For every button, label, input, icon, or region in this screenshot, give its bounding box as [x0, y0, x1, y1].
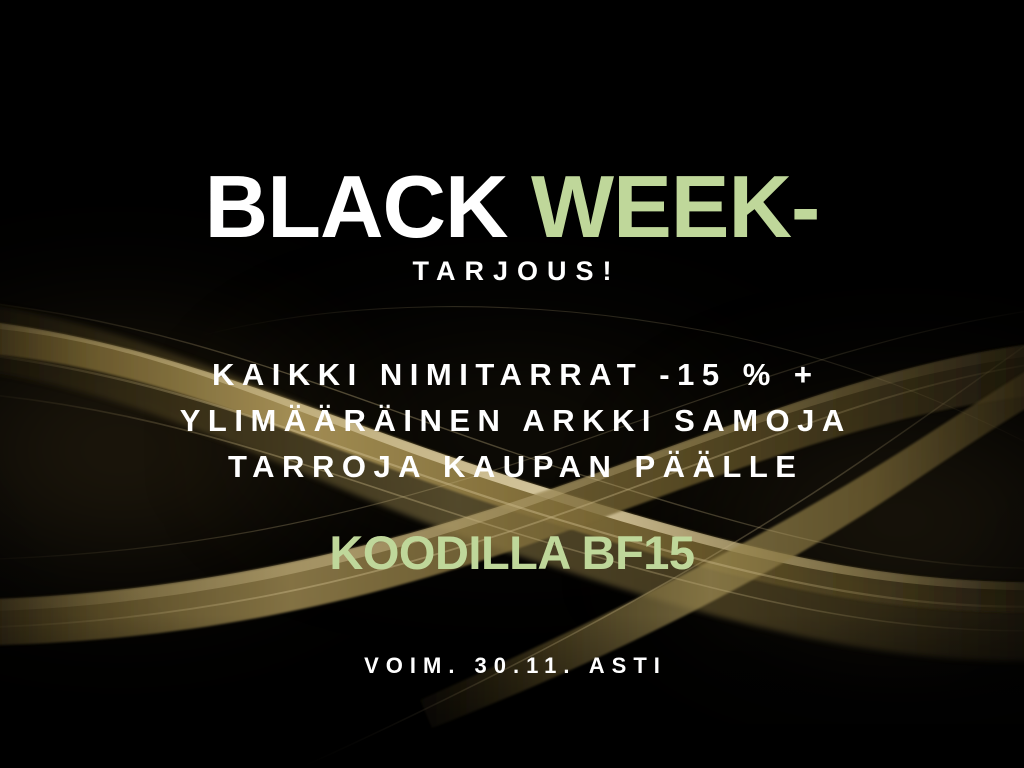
headline-subtitle: TARJOUS!	[0, 258, 1024, 285]
page-title: BLACK WEEK-	[0, 163, 1024, 251]
banner-content: BLACK WEEK- TARJOUS! KAIKKI NIMITARRAT -…	[0, 0, 1024, 768]
black-week-promo-banner: BLACK WEEK- TARJOUS! KAIKKI NIMITARRAT -…	[0, 0, 1024, 768]
promo-code-text: KOODILLA BF15	[0, 529, 1024, 576]
offer-line-3: TARROJA KAUPAN PÄÄLLE	[0, 444, 1024, 490]
headline-week: WEEK-	[531, 157, 819, 256]
headline-black: BLACK	[205, 157, 531, 256]
validity-text: VOIM. 30.11. ASTI	[0, 655, 1024, 677]
offer-line-2: YLIMÄÄRÄINEN ARKKI SAMOJA	[0, 398, 1024, 444]
offer-description: KAIKKI NIMITARRAT -15 % + YLIMÄÄRÄINEN A…	[0, 352, 1024, 490]
offer-line-1: KAIKKI NIMITARRAT -15 % +	[0, 352, 1024, 398]
